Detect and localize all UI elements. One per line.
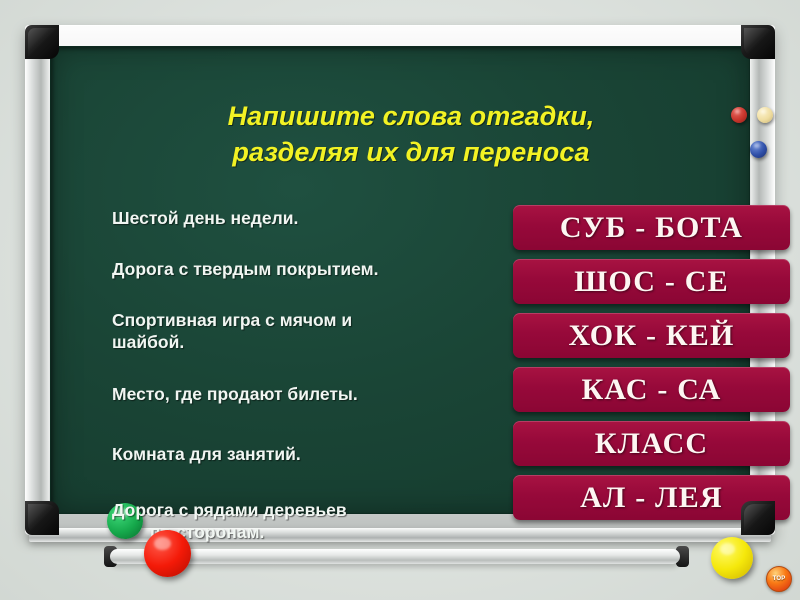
riddle-item-5: Комната для занятий. [112,443,482,465]
frame-corner-top-left [25,25,59,59]
answer-card-5[interactable]: КЛАСС [513,421,790,466]
page-title-line-1: Напишите слова отгадки, [111,99,711,135]
answer-text-1: СУБ - БОТА [560,211,743,245]
riddle-text-6: Дорога с рядами деревьев [112,500,347,520]
answer-card-4[interactable]: КАС - СА [513,367,790,412]
answer-card-list: СУБ - БОТА ШОС - СЕ ХОК - КЕЙ КАС - СА К… [513,205,790,520]
page-title: Напишите слова отгадки, разделяя их для … [111,99,711,171]
magnet-cream-icon[interactable] [757,107,773,123]
answer-text-6: АЛ - ЛЕЯ [580,481,723,515]
whiteboard-frame: Напишите слова отгадки, разделяя их для … [25,25,775,535]
riddle-text-2: Дорога с твердым покрытием. [112,259,378,279]
page-title-line-2: разделяя их для переноса [111,135,711,171]
riddle-item-2: Дорога с твердым покрытием. [112,258,482,280]
frame-corner-bottom-right [741,501,775,535]
magnet-yellow-icon[interactable] [711,537,753,579]
riddle-text-5: Комната для занятий. [112,444,301,464]
riddle-item-3: Спортивная игра с мячом и шайбой. [112,309,482,353]
riddle-text-3: Спортивная игра с мячом и [112,310,352,330]
riddle-item-4: Место, где продают билеты. [112,383,482,405]
answer-card-1[interactable]: СУБ - БОТА [513,205,790,250]
pen-tray-bar [110,549,680,564]
board-writing-surface[interactable]: Напишите слова отгадки, разделяя их для … [51,47,749,513]
answer-text-5: КЛАСС [595,427,709,461]
magnet-blue-icon[interactable] [750,141,767,158]
riddle-list: Шестой день недели. Дорога с твердым пок… [112,207,482,543]
magnet-red-small-icon[interactable] [731,107,747,123]
watermark-badge-icon[interactable]: TOP [766,566,792,592]
magnet-red-large-icon[interactable] [144,530,191,577]
answer-card-2[interactable]: ШОС - СЕ [513,259,790,304]
riddle-text-1: Шестой день недели. [112,208,298,228]
frame-corner-bottom-left [25,501,59,535]
riddle-item-1: Шестой день недели. [112,207,482,229]
frame-corner-top-right [741,25,775,59]
answer-text-3: ХОК - КЕЙ [568,319,734,353]
answer-card-3[interactable]: ХОК - КЕЙ [513,313,790,358]
riddle-text-4: Место, где продают билеты. [112,384,358,404]
answer-text-4: КАС - СА [581,373,721,407]
riddle-text-3-line-2: шайбой. [112,331,482,353]
answer-text-2: ШОС - СЕ [574,265,729,299]
watermark-badge-label: TOP [773,576,786,582]
